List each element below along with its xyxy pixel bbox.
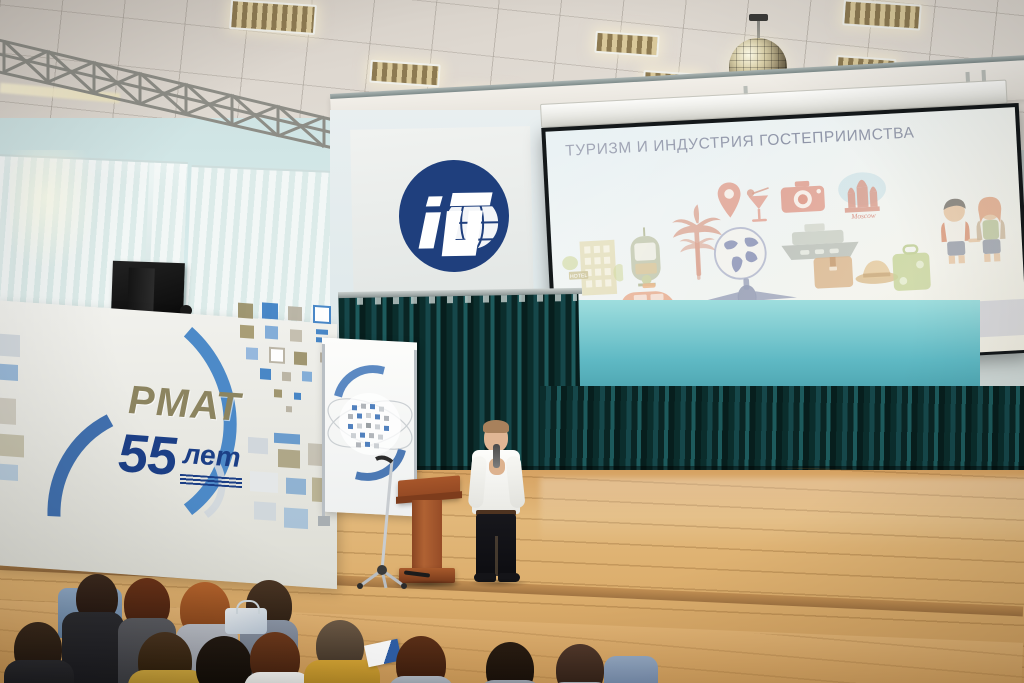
rmat-institute-logo: [398, 159, 510, 273]
stage-floor-reflection: [540, 478, 1024, 548]
audience-body: [128, 670, 206, 683]
ceiling-light-fixture: [594, 31, 659, 57]
lighting-truss: [0, 30, 350, 150]
banner-years-number: 55: [118, 422, 176, 488]
audience-body: [4, 660, 74, 683]
audience-body: [388, 676, 454, 683]
handheld-microphone[interactable]: [493, 444, 500, 468]
rollup-banner-foot: [318, 516, 330, 526]
ceiling-light-fixture: [369, 60, 440, 88]
rollup-banner-stand-left: [322, 344, 325, 520]
audience-head: [486, 642, 534, 683]
conference-hall-photo: ТУРИЗМ И ИНДУСТРИЯ ГОСТЕПРИИМСТВА HOTEL: [0, 0, 1024, 683]
audience-chair-right: [604, 656, 658, 683]
banner-years-word: лет: [183, 438, 241, 474]
audience-bag-handle: [236, 600, 260, 614]
speaker-hair: [483, 420, 509, 433]
audience-head: [556, 644, 604, 683]
banner-left-graphics: [0, 327, 72, 493]
audience-body: [244, 672, 312, 683]
mirror-ball-mount: [749, 14, 768, 21]
blinds-glow: [10, 150, 100, 270]
ceiling-light-fixture: [842, 0, 922, 31]
audience-area: [0, 560, 700, 683]
